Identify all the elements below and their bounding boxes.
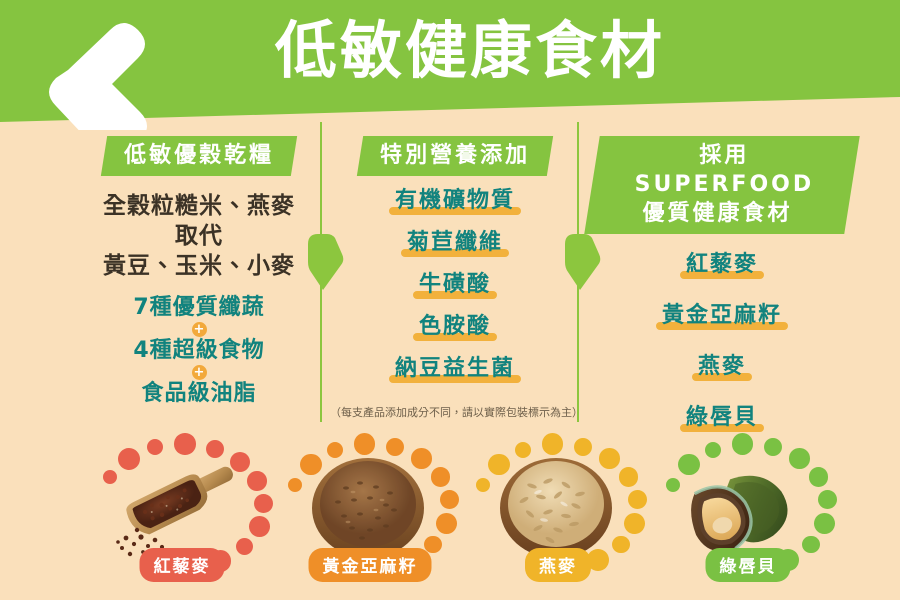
product-flaxseed: 黃金亞麻籽 bbox=[270, 440, 470, 590]
plus-icon: + bbox=[192, 365, 207, 380]
plus-icon: + bbox=[192, 322, 207, 337]
column-superfood-header-line-2: 優質健康食材 bbox=[607, 199, 827, 228]
product-label-pill: 燕麥 bbox=[525, 548, 591, 582]
column-nutrition-header: 特別營養添加 bbox=[357, 136, 553, 176]
grain-replacement-text: 全穀粒糙米、燕麥 取代 黃豆、玉米、小麥 bbox=[74, 192, 324, 282]
product-green-mussel: 綠唇貝 bbox=[648, 440, 848, 590]
chevron-right-icon bbox=[38, 8, 156, 130]
column-grain: 低敏優穀乾糧 全穀粒糙米、燕麥 取代 黃豆、玉米、小麥 7種優質纖蔬 + 4種超… bbox=[74, 136, 324, 407]
decorative-dot bbox=[440, 490, 459, 509]
column-nutrition-header-line-1: 特別營養添加 bbox=[380, 141, 530, 170]
product-oats: 燕麥 bbox=[458, 440, 658, 590]
list-item: 牛磺酸 bbox=[413, 274, 497, 299]
list-item: 有機礦物質 bbox=[389, 190, 521, 215]
list-item: 4種超級食物 bbox=[74, 338, 324, 364]
column-superfood-header-line-1: 採用SUPERFOOD bbox=[614, 141, 834, 199]
list-item: 紅藜麥 bbox=[680, 254, 764, 279]
product-red-quinoa: 紅藜麥 bbox=[82, 440, 282, 590]
decorative-dot bbox=[247, 471, 267, 491]
column-grain-header-line-1: 低敏優穀乾糧 bbox=[124, 141, 274, 170]
column-grain-header: 低敏優穀乾糧 bbox=[101, 136, 297, 176]
list-item: 色胺酸 bbox=[413, 316, 497, 341]
bowl-of-oats-image bbox=[486, 450, 626, 562]
list-item: 食品級油脂 bbox=[74, 381, 324, 407]
footnote: （每支產品添加成分不同，請以實際包裝標示為主） bbox=[330, 404, 580, 420]
list-item: 綠唇貝 bbox=[680, 407, 764, 432]
superfood-item-list: 紅藜麥 黃金亞麻籽 燕麥 綠唇貝 bbox=[592, 254, 852, 449]
list-item: 燕麥 bbox=[692, 356, 752, 381]
column-superfood-header: 採用SUPERFOOD 優質健康食材 bbox=[584, 136, 860, 234]
page-title: 低敏健康食材 bbox=[210, 8, 730, 94]
decorative-dot bbox=[249, 516, 270, 537]
scoop-of-red-quinoa-image bbox=[110, 450, 250, 562]
product-label-pill: 黃金亞麻籽 bbox=[309, 548, 432, 582]
grain-replace-line-2: 取代 bbox=[74, 222, 324, 252]
product-label-pill: 紅藜麥 bbox=[140, 548, 225, 582]
green-lipped-mussel-image bbox=[676, 450, 816, 562]
nutrition-item-list: 有機礦物質 菊苣纖維 牛磺酸 色胺酸 納豆益生菌 bbox=[330, 190, 580, 400]
list-item: 納豆益生菌 bbox=[389, 358, 521, 383]
column-nutrition: 特別營養添加 有機礦物質 菊苣纖維 牛磺酸 色胺酸 納豆益生菌 bbox=[330, 136, 580, 400]
decorative-dot bbox=[628, 490, 647, 509]
decorative-dot bbox=[624, 513, 645, 534]
column-superfood: 採用SUPERFOOD 優質健康食材 紅藜麥 黃金亞麻籽 燕麥 綠唇貝 bbox=[592, 136, 852, 449]
decorative-dot bbox=[814, 513, 835, 534]
bowl-of-golden-flaxseed-image bbox=[298, 450, 438, 562]
product-label-pill: 綠唇貝 bbox=[706, 548, 791, 582]
list-item: 7種優質纖蔬 bbox=[74, 295, 324, 321]
grain-replace-line-1: 全穀粒糙米、燕麥 bbox=[74, 192, 324, 222]
list-item: 黃金亞麻籽 bbox=[656, 305, 788, 330]
infographic-poster: 低敏健康食材 低敏優穀乾糧 全穀粒糙米、燕麥 取代 黃豆、玉米、小麥 7種優質纖… bbox=[0, 0, 900, 600]
decorative-dot bbox=[436, 513, 457, 534]
grain-plus-list: 7種優質纖蔬 + 4種超級食物 + 食品級油脂 bbox=[74, 295, 324, 407]
grain-replace-line-3: 黃豆、玉米、小麥 bbox=[74, 252, 324, 282]
list-item: 菊苣纖維 bbox=[401, 232, 509, 257]
decorative-dot bbox=[818, 490, 837, 509]
